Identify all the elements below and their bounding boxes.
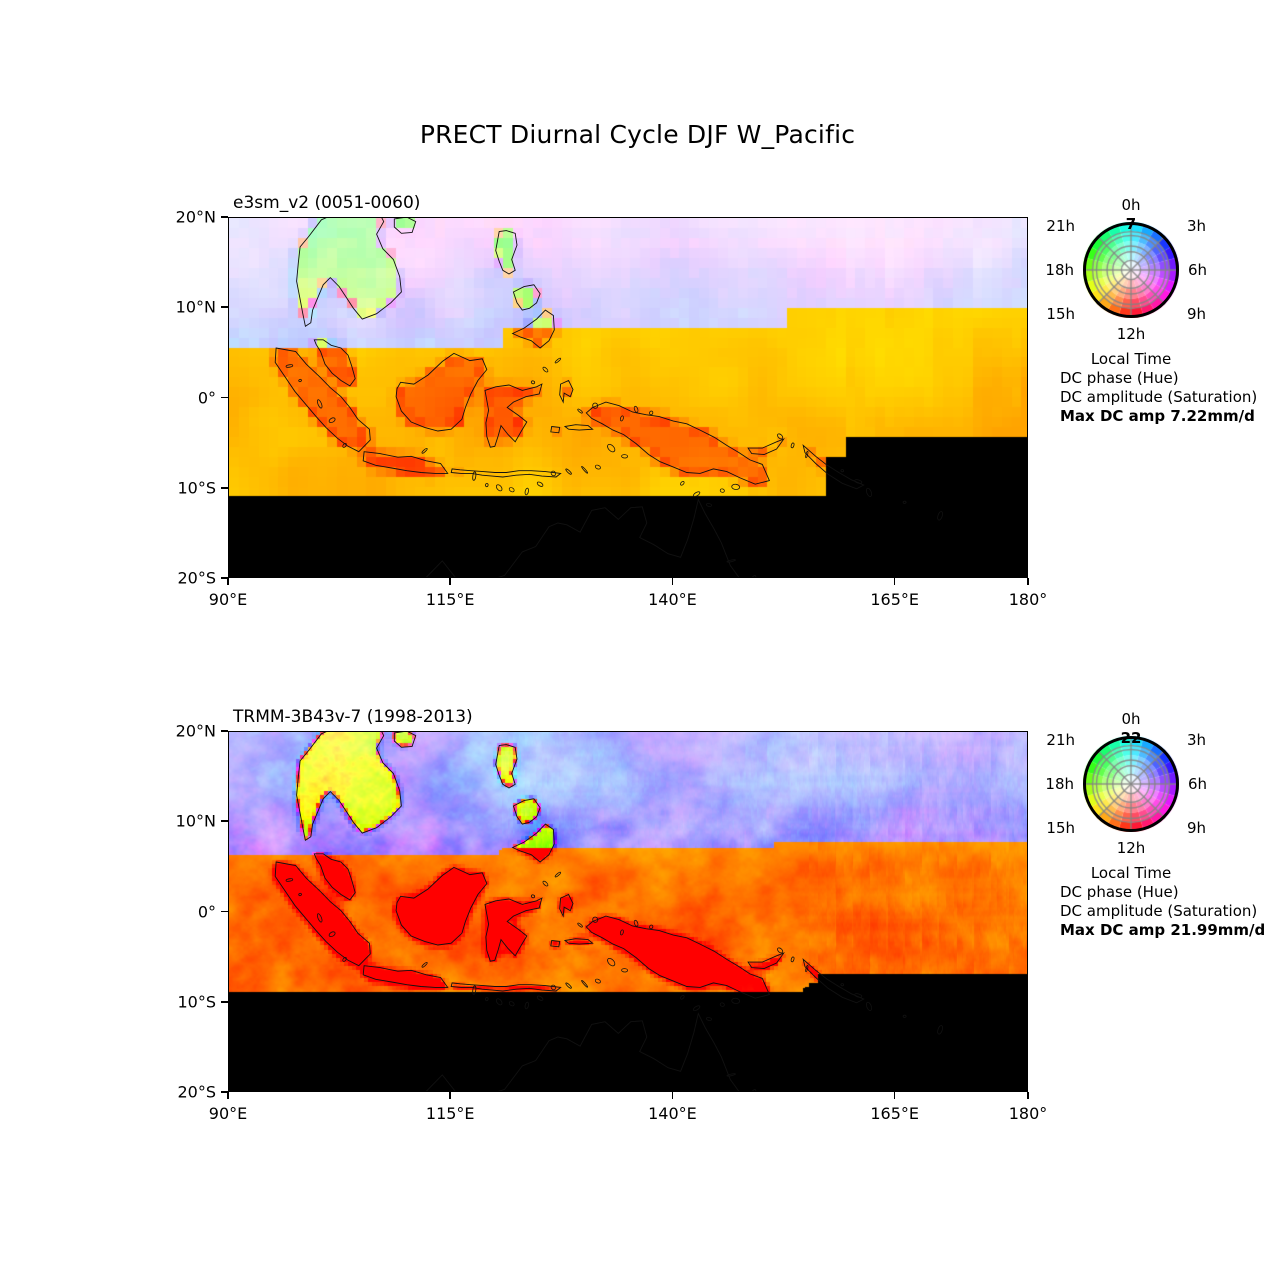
legend-max-amp: Max DC amp 21.99mm/d <box>1060 921 1265 939</box>
colorwheel-hour-label: 12h <box>1117 839 1146 857</box>
colorwheel-hour-label: 6h <box>1188 775 1207 793</box>
figure-root: PRECT Diurnal Cycle DJF W_Pacific e3sm_v… <box>0 0 1275 1275</box>
legend-local-time: Local Time <box>1091 864 1171 882</box>
phase-colorwheel-obs <box>1083 736 1179 832</box>
legend-obs: 0h3h6h9h12h15h18h21h22Local TimeDC phase… <box>0 0 1275 1275</box>
colorwheel-max-marker: 22 <box>1121 729 1142 747</box>
colorwheel-hour-label: 18h <box>0 775 1074 793</box>
legend-phase-note: DC phase (Hue) <box>1060 883 1179 901</box>
colorwheel-hour-label: 21h <box>0 731 1075 749</box>
legend-amplitude-note: DC amplitude (Saturation) <box>1060 902 1257 920</box>
colorwheel-hour-label: 0h <box>1121 710 1140 728</box>
colorwheel-hour-label: 3h <box>1187 731 1206 749</box>
colorwheel-hour-label: 9h <box>1187 819 1206 837</box>
colorwheel-hour-label: 15h <box>0 819 1075 837</box>
